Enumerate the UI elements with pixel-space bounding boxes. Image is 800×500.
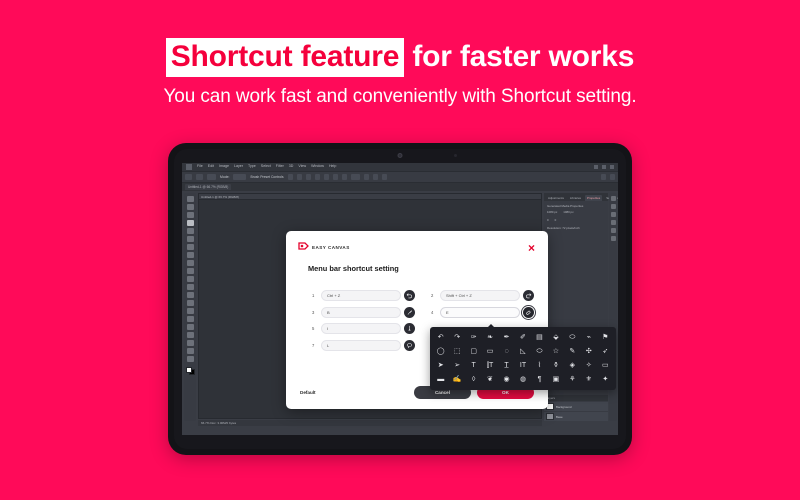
brushes-panel-icon[interactable] [611, 212, 616, 217]
dialog-header: EASY CANVAS × [286, 231, 548, 254]
paragraph-icon[interactable]: ¶ [532, 373, 547, 386]
healing-icon[interactable]: ⚘ [565, 373, 580, 386]
dodge-icon[interactable]: ✧ [581, 359, 596, 372]
shortcut-index: 2 [431, 293, 437, 298]
close-window-icon[interactable] [610, 165, 614, 169]
menu-item-file[interactable]: File [197, 165, 203, 169]
shortcut-input-1[interactable]: Ctrl + Z [321, 290, 401, 301]
freeform-pen-icon[interactable]: ➶ [598, 345, 613, 358]
pen-tool-icon[interactable]: ✒ [499, 331, 514, 344]
frame-tool-icon[interactable] [187, 236, 194, 242]
blur-icon[interactable]: ◈ [565, 359, 580, 372]
sharpen-icon[interactable]: ❦ [482, 373, 497, 386]
menu-item-select[interactable]: Select [261, 165, 271, 169]
palette-icon[interactable]: ◉ [499, 373, 514, 386]
hand-icon[interactable]: ✍ [449, 373, 464, 386]
circle-icon[interactable]: ◌ [499, 345, 514, 358]
shortcut-row-5[interactable]: 5 I [312, 323, 415, 334]
quick-select-tool-icon[interactable] [187, 220, 194, 226]
shortcut-settings-dialog: EASY CANVAS × Menu bar shortcut setting … [286, 231, 548, 409]
redo-icon[interactable]: ↷ [449, 331, 464, 344]
headline-highlight: Shortcut feature [166, 38, 405, 77]
layer-thumbnail [546, 413, 554, 420]
color-swatches[interactable] [186, 367, 195, 375]
rectangle-icon[interactable]: ▢ [466, 345, 481, 358]
history-brush-tool-icon[interactable] [187, 276, 194, 282]
options-preset-label: Brush Preset Controls [250, 175, 283, 179]
workspace-icon[interactable] [610, 174, 615, 180]
shortcut-index: 1 [312, 293, 318, 298]
transform-icon[interactable] [207, 174, 216, 180]
flow-icon[interactable] [333, 174, 338, 180]
marquee-tool-icon[interactable] [187, 204, 194, 210]
type-bold-icon[interactable]: IT [515, 359, 530, 372]
stamp-icon[interactable]: ⚱ [548, 359, 563, 372]
menu-item-edit[interactable]: Edit [208, 165, 214, 169]
search-icon[interactable] [601, 174, 606, 180]
property-height: 1080 px [563, 210, 573, 214]
headline-rest: for faster works [404, 40, 634, 73]
menu-item-type[interactable]: Type [248, 165, 256, 169]
document-tab[interactable]: Untitled-1 @ 66.7% (RGB/8) [185, 184, 231, 190]
info-panel-icon[interactable] [611, 236, 616, 241]
foreground-color-swatch[interactable] [186, 367, 192, 373]
distribute-icon[interactable] [315, 174, 320, 180]
minimize-icon[interactable] [594, 165, 598, 169]
sparkle-icon[interactable]: ✦ [598, 373, 613, 386]
page-subtitle: You can work fast and conveniently with … [0, 87, 800, 106]
eraser-icon[interactable] [523, 307, 534, 318]
color-panel-icon[interactable] [611, 196, 616, 201]
shortcut-input-3[interactable]: B [321, 307, 401, 318]
brand-name: EASY CANVAS [312, 245, 350, 250]
pen-tool-icon[interactable] [187, 316, 194, 322]
type-tool-icon[interactable] [187, 324, 194, 330]
move-tool-icon[interactable] [196, 174, 203, 180]
tool-palette-grid[interactable]: ↶ ↷ ✑ ❧ ✒ ✐ ▤ ⬙ ⬭ ⌁ ⚑ ◯ ⬚ ▢ [433, 331, 613, 386]
shortcut-index: 7 [312, 343, 318, 348]
menu-item-view[interactable]: View [298, 165, 306, 169]
eraser-icon[interactable]: ✐ [515, 331, 530, 344]
pen-icon[interactable]: ✎ [565, 345, 580, 358]
shortcut-input-5[interactable]: I [321, 323, 401, 334]
maximize-icon[interactable] [602, 165, 606, 169]
gradient-icon[interactable]: ▤ [532, 331, 547, 344]
properties-subtitle: Generated Media Properties [547, 204, 605, 208]
stamp-tool-icon[interactable] [187, 268, 194, 274]
lasso-icon[interactable]: ⬭ [565, 331, 580, 344]
paint-bucket-icon[interactable]: ⬙ [548, 331, 563, 344]
brush-icon[interactable]: ✑ [466, 331, 481, 344]
list-item[interactable]: Background [544, 402, 608, 411]
shape-tool-icon[interactable] [187, 340, 194, 346]
curvature-pen-icon[interactable]: ✣ [581, 345, 596, 358]
sensor-dot-icon [454, 154, 457, 157]
page-title: Shortcut feature for faster works [0, 42, 800, 72]
blend-mode-select[interactable] [351, 174, 360, 180]
path-select-icon[interactable]: ⌇ [532, 359, 547, 372]
direct-select-icon[interactable]: ➢ [449, 359, 464, 372]
shortcut-input-4[interactable]: E [440, 307, 520, 318]
undo-icon[interactable]: ↶ [433, 331, 448, 344]
dodge-tool-icon[interactable] [187, 308, 194, 314]
shortcut-input-2[interactable]: Shift + Ctrl + Z [440, 290, 520, 301]
type-icon[interactable]: T [466, 359, 481, 372]
rounded-rect-icon[interactable]: ▭ [482, 345, 497, 358]
paths-panel-icon[interactable] [611, 228, 616, 233]
tool-palette-popup[interactable]: ↶ ↷ ✑ ❧ ✒ ✐ ▤ ⬙ ⬭ ⌁ ⚑ ◯ ⬚ ▢ [430, 327, 616, 390]
magnetic-lasso-icon[interactable]: ⚑ [598, 331, 613, 344]
mode-select[interactable] [233, 174, 246, 180]
symmetry-icon[interactable] [364, 174, 369, 180]
document-tab-strip[interactable]: Untitled-1 @ 66.7% (RGB/8) [182, 183, 618, 191]
lasso-tool-icon[interactable] [187, 212, 194, 218]
align-left-icon[interactable] [288, 174, 293, 180]
burn-icon[interactable]: ◍ [515, 373, 530, 386]
promo-banner: Shortcut feature for faster works You ca… [0, 0, 800, 106]
app-logo-icon [186, 164, 192, 170]
polygon-lasso-icon[interactable]: ⌁ [581, 331, 596, 344]
brand-logo: EASY CANVAS [298, 242, 350, 253]
undo-icon[interactable] [404, 290, 415, 301]
home-icon[interactable] [185, 174, 192, 180]
left-toolbar[interactable] [184, 193, 196, 421]
front-camera-icon [398, 153, 403, 158]
shortcut-row-1[interactable]: 1 Ctrl + Z [312, 290, 415, 301]
menu-item-3d[interactable]: 3D [289, 165, 294, 169]
options-mode-label: Mode: [220, 175, 229, 179]
eyedropper-tool-icon[interactable] [187, 244, 194, 250]
eraser-tool-icon[interactable] [187, 284, 194, 290]
water-drop-icon[interactable]: ◊ [466, 373, 481, 386]
ellipse-select-icon[interactable]: ◯ [433, 345, 448, 358]
patch-icon[interactable]: ⚜ [581, 373, 596, 386]
ellipse-icon[interactable]: ⬭ [532, 345, 547, 358]
crop-icon[interactable]: ▭ [598, 359, 613, 372]
shortcut-row-3[interactable]: 3 B [312, 307, 415, 318]
app-menu-bar[interactable]: File Edit Image Layer Type Select Filter… [182, 163, 618, 172]
shortcut-index: 4 [431, 310, 437, 315]
shortcut-row-7[interactable]: 7 L [312, 340, 415, 351]
layer-name: Base [556, 415, 563, 419]
type-mask-icon[interactable]: T̲ [499, 359, 514, 372]
gradient-tool-icon[interactable] [187, 292, 194, 298]
redo-icon[interactable] [523, 290, 534, 301]
property-resolution: Resolution: 72 pixels/inch [547, 226, 605, 230]
tablet-device: File Edit Image Layer Type Select Filter… [168, 143, 632, 455]
healing-tool-icon[interactable] [187, 252, 194, 258]
shortcut-index: 5 [312, 326, 318, 331]
layers-panel-title: Layers [544, 395, 608, 401]
marquee-select-icon[interactable]: ⬚ [449, 345, 464, 358]
align-right-icon[interactable] [306, 174, 311, 180]
history-panel-icon[interactable] [611, 204, 616, 209]
brush-tool-icon[interactable] [187, 260, 194, 266]
type-vertical-icon[interactable]: ⫿T [482, 359, 497, 372]
canvas-tab-label: Untitled-1 @ 66.7% (RGB/8) [199, 194, 541, 200]
tablet-bezel: File Edit Image Layer Type Select Filter… [174, 149, 626, 449]
layer-name: Background [556, 405, 571, 409]
star-icon[interactable]: ☆ [548, 345, 563, 358]
zoom-tool-icon[interactable] [187, 356, 194, 362]
property-x: 0 [547, 218, 549, 222]
dialog-title: Menu bar shortcut setting [286, 254, 548, 273]
property-width: 1080 px [547, 210, 557, 214]
move-tool-icon[interactable] [187, 196, 194, 202]
path-select-tool-icon[interactable] [187, 332, 194, 338]
frame-icon[interactable]: ▣ [548, 373, 563, 386]
crop-tool-icon[interactable] [187, 228, 194, 234]
shortcut-row-2[interactable]: 2 Shift + Ctrl + Z [431, 290, 534, 301]
close-icon[interactable]: × [527, 242, 536, 254]
airbrush-icon[interactable] [373, 174, 378, 180]
window-controls[interactable] [594, 165, 614, 169]
brush-icon[interactable] [404, 307, 415, 318]
eyedropper-icon[interactable] [404, 323, 415, 334]
hand-tool-icon[interactable] [187, 348, 194, 354]
menu-item-layer[interactable]: Layer [234, 165, 243, 169]
property-y: 0 [555, 218, 557, 222]
smudge-icon[interactable]: ❧ [482, 331, 497, 344]
smoothing-icon[interactable] [342, 174, 347, 180]
opacity-icon[interactable] [324, 174, 329, 180]
palette-caret-icon [488, 324, 494, 327]
triangle-icon[interactable]: ◺ [515, 345, 530, 358]
menu-item-filter[interactable]: Filter [276, 165, 284, 169]
shortcut-index: 3 [312, 310, 318, 315]
line-icon[interactable]: ▬ [433, 373, 448, 386]
move-icon[interactable]: ➤ [433, 359, 448, 372]
right-panel-tabs[interactable]: Adjustments Libraries Properties Swatche… [544, 193, 608, 201]
default-button[interactable]: Default [300, 390, 316, 395]
list-item[interactable]: Base [544, 412, 608, 421]
blur-tool-icon[interactable] [187, 300, 194, 306]
pressure-icon[interactable] [382, 174, 387, 180]
status-bar: 66.7% Doc: 3.00M/0 bytes [198, 420, 542, 426]
channels-panel-icon[interactable] [611, 220, 616, 225]
menu-item-window[interactable]: Window [311, 165, 324, 169]
easy-canvas-logo-icon [298, 242, 309, 253]
tablet-screen: File Edit Image Layer Type Select Filter… [182, 163, 618, 435]
menu-item-image[interactable]: Image [219, 165, 229, 169]
lasso-icon[interactable] [404, 340, 415, 351]
menu-item-help[interactable]: Help [329, 165, 336, 169]
align-center-icon[interactable] [297, 174, 302, 180]
app-options-bar[interactable]: Mode: Brush Preset Controls [182, 172, 618, 183]
shortcut-input-7[interactable]: L [321, 340, 401, 351]
layers-panel[interactable]: Layers Background Base [544, 395, 608, 421]
shortcut-row-4[interactable]: 4 E [431, 307, 534, 318]
